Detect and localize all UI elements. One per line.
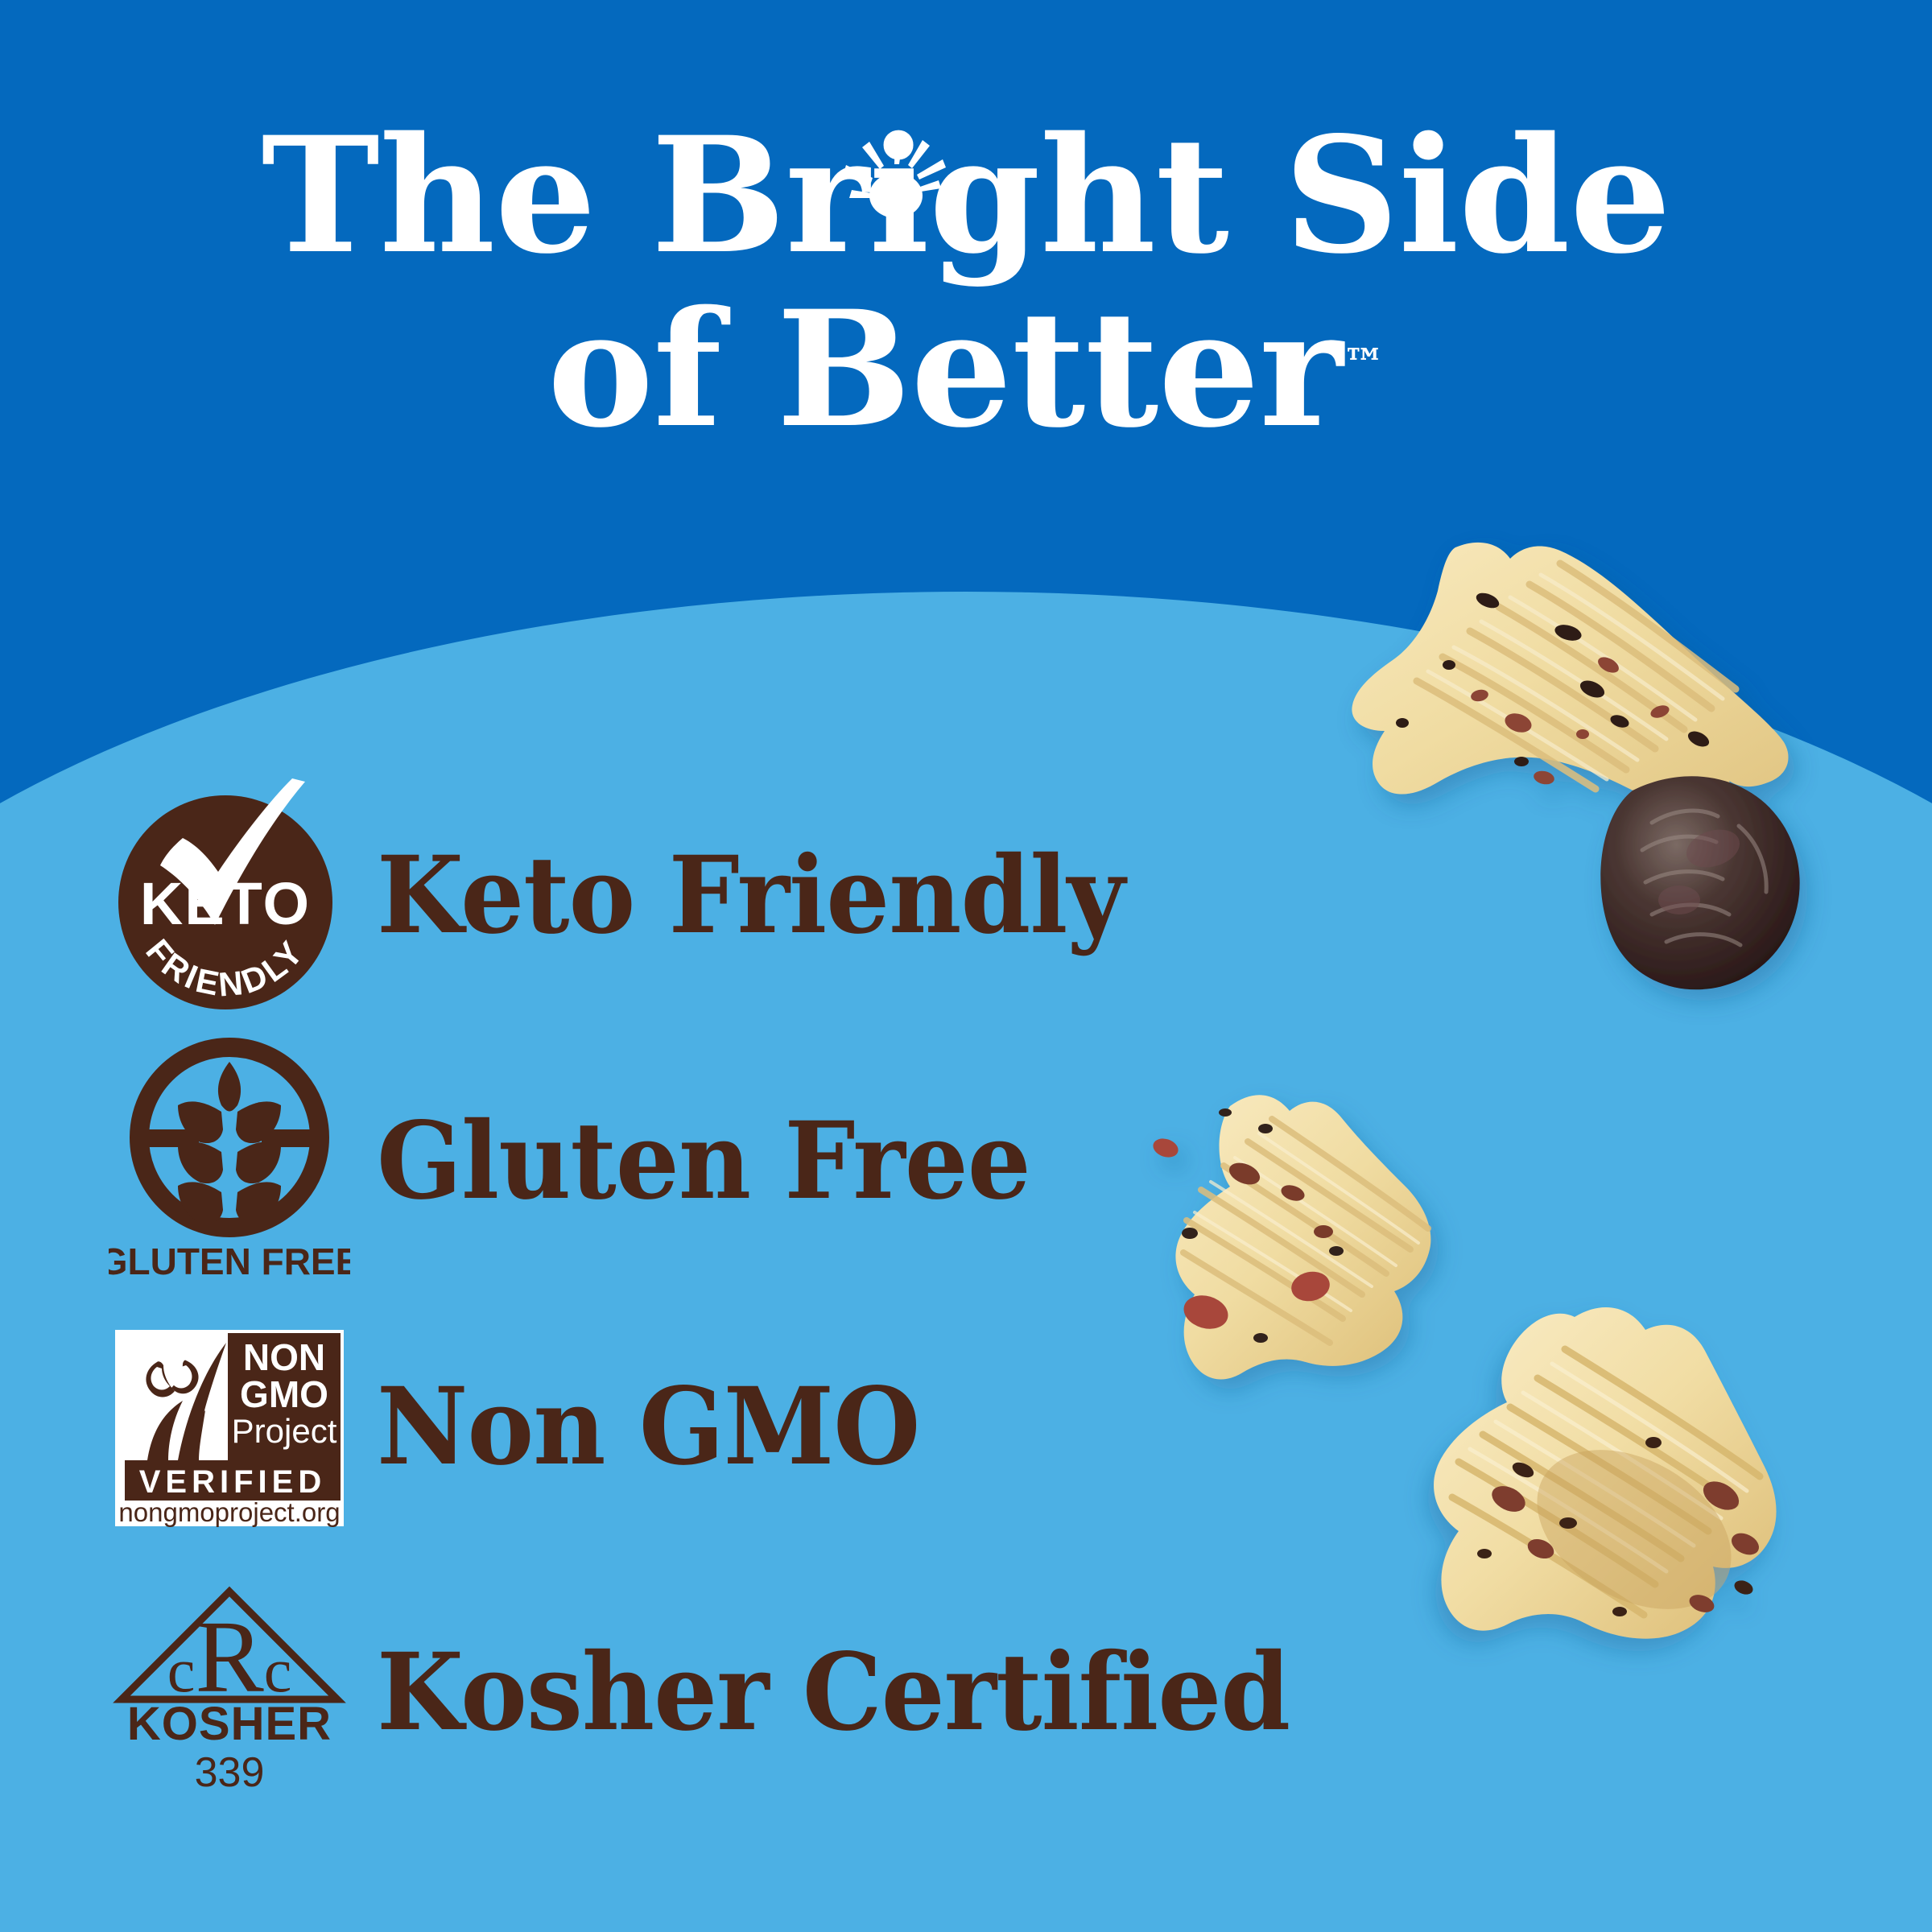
wheat-stalk-crossed-icon: [139, 1047, 320, 1228]
kosher-caption: KOSHER: [127, 1698, 332, 1750]
promo-graphic-canvas: The Bright Side of Better™: [0, 0, 1932, 1932]
keto-friendly-badge: KETO FRIENDLY: [97, 767, 362, 1025]
crc-kosher-badge: cRc KOSHER 339: [97, 1564, 362, 1822]
claim-label-kosher: Kosher Certified: [377, 1640, 1290, 1746]
headline-line-2-text: of Better: [547, 275, 1343, 463]
non-gmo-line-4: VERIFIED: [139, 1464, 326, 1500]
ridged-cracker-lower: [1368, 1288, 1868, 1835]
crc-mark: cRc: [167, 1600, 292, 1714]
claim-row-non-gmo: NON GMO Project VERIFIED nongmoproject.o…: [97, 1294, 1304, 1560]
claim-row-keto: KETO FRIENDLY Keto Friendly: [97, 763, 1304, 1029]
dried-blueberry: [1600, 776, 1799, 989]
headline-line-2: of Better™: [0, 293, 1932, 446]
trademark-symbol: ™: [1343, 340, 1385, 389]
headline-line-1-text: The Bright Side: [261, 101, 1670, 289]
claim-row-gluten-free: GLUTEN FREE Gluten Free: [97, 1029, 1304, 1294]
claim-label-non-gmo: Non GMO: [377, 1374, 919, 1480]
gluten-free-badge-caption: GLUTEN FREE: [109, 1241, 350, 1282]
claim-label-keto: Keto Friendly: [377, 843, 1125, 949]
page-title: The Bright Side of Better™: [0, 119, 1932, 446]
claim-row-kosher: cRc KOSHER 339 Kosher Certified: [97, 1560, 1304, 1826]
non-gmo-line-2: GMO: [240, 1373, 328, 1415]
kosher-certificate-number: 339: [195, 1749, 265, 1796]
non-gmo-line-1: NON: [243, 1336, 325, 1378]
non-gmo-url-text: nongmoproject.org: [118, 1497, 340, 1527]
claims-list: KETO FRIENDLY Keto Friendly: [97, 763, 1304, 1826]
non-gmo-line-3: Project: [232, 1412, 337, 1450]
claim-label-gluten-free: Gluten Free: [377, 1108, 1030, 1215]
ridged-cracker-with-dried-blueberry: [1288, 523, 1835, 1103]
gluten-free-badge: GLUTEN FREE: [97, 1033, 362, 1290]
non-gmo-project-verified-badge: NON GMO Project VERIFIED nongmoproject.o…: [97, 1298, 362, 1556]
keto-badge-primary-text: KETO: [140, 870, 311, 937]
headline-line-1: The Bright Side: [0, 119, 1932, 272]
